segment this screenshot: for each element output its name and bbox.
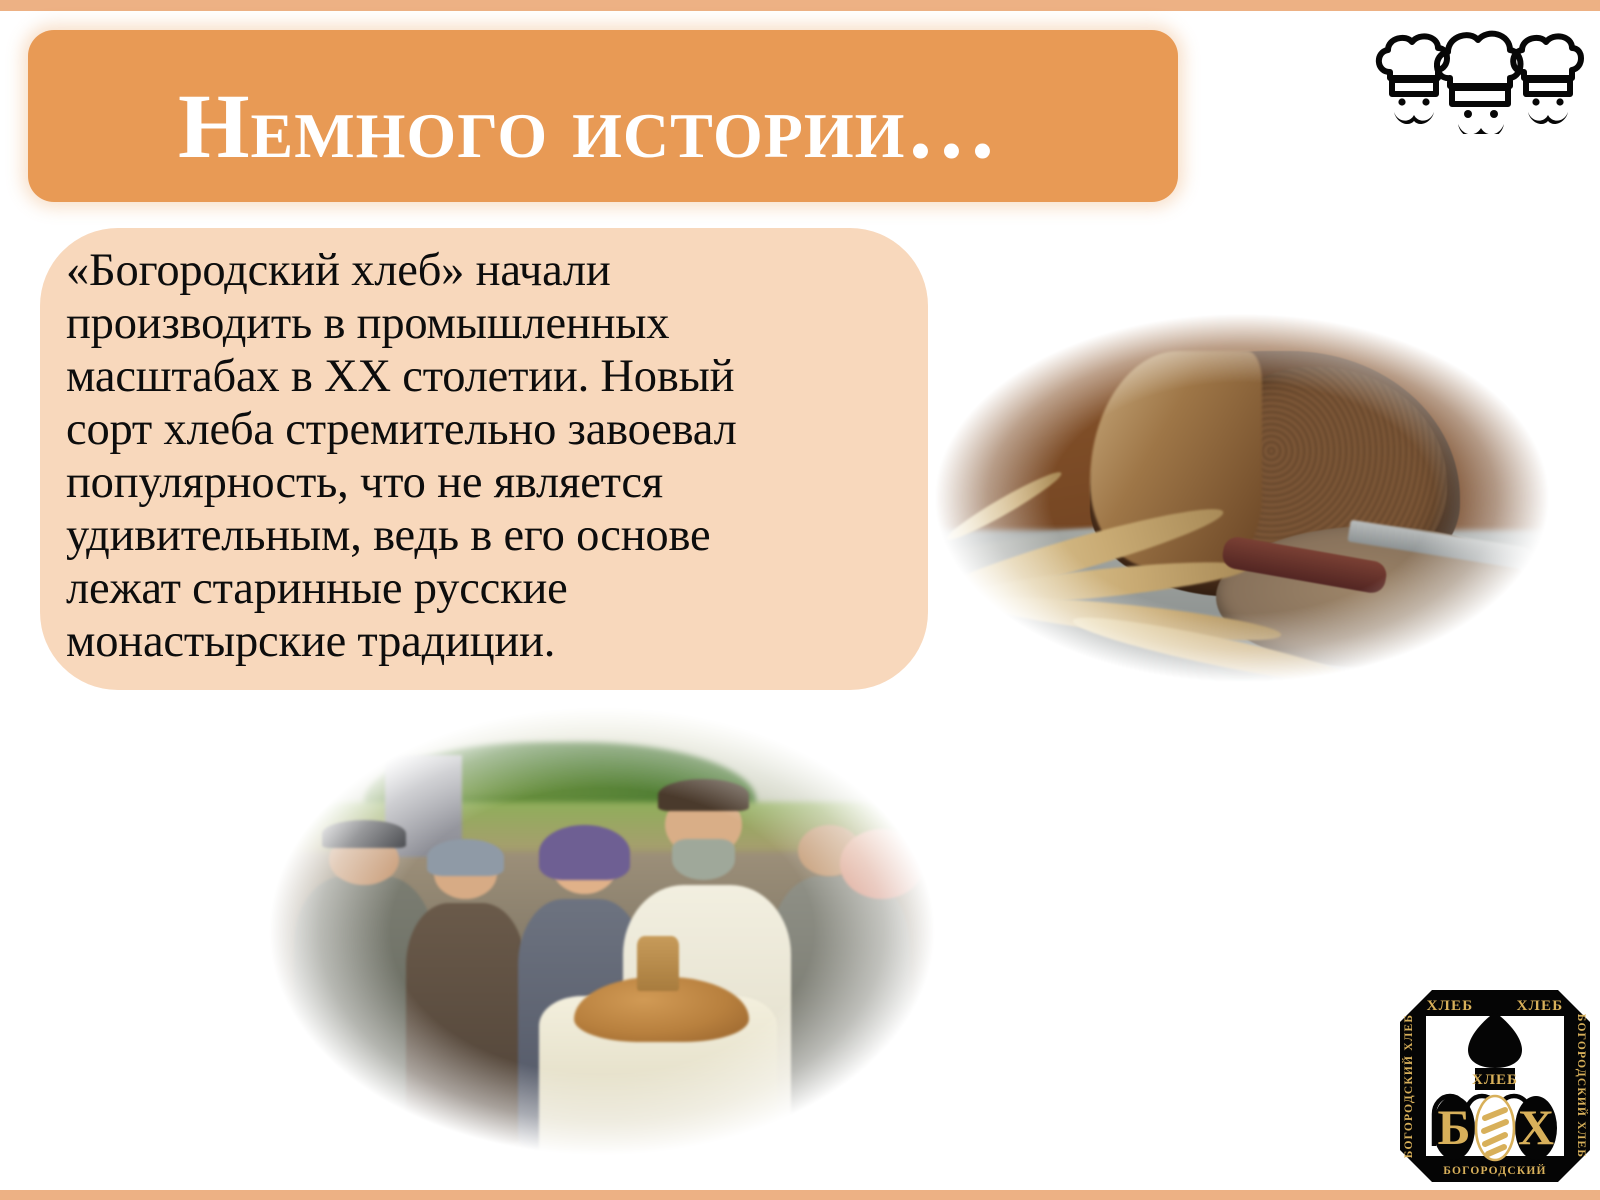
painting-figure-scarf [539,825,630,880]
three-chef-hats-icon [1372,22,1588,134]
title-banner: Немного истории… [28,30,1178,202]
body-text-panel: «Богородский хлеб» начали производить в … [40,228,928,690]
page-title: Немного истории… [178,80,1178,172]
painting-figure-cap [322,820,406,848]
painting-elder-beard [672,839,735,881]
painting-figure [406,903,525,1143]
top-accent-band [0,0,1600,11]
bread-photo [912,300,1572,696]
bottom-accent-band [0,1190,1600,1200]
painting-bread-and-salt [252,700,952,1162]
logo-border-bottom: БОГОРОДСКИЙ [1443,1163,1546,1177]
body-paragraph: «Богородский хлеб» начали производить в … [66,244,906,668]
painting-salt-cellar [637,936,679,991]
logo-word-hleb-right: ХЛЕБ [1517,998,1564,1014]
slide-canvas: Немного истории… «Богородский хлеб» нача… [0,0,1600,1200]
painting-figure [770,876,910,1153]
logo-word-hleb-left: ХЛЕБ [1427,998,1474,1014]
logo-border-left: БОГОРОДСКИЙ ХЛЕБ [1401,1014,1415,1158]
bogorodsky-hleb-logo: БОГОРОДСКИЙ БОГОРОДСКИЙ ХЛЕБ БОГОРОДСКИЙ… [1398,988,1592,1184]
painting-elder-hair [658,779,749,811]
painting-figure-head [840,829,924,898]
logo-letter-b: Б [1437,1099,1470,1155]
painting-figure-scarf [427,839,504,876]
logo-dome-word: ХЛЕБ [1472,1072,1518,1088]
logo-letter-h: Х [1518,1099,1554,1155]
logo-border-right: БОГОРОДСКИЙ ХЛЕБ [1575,1014,1589,1158]
